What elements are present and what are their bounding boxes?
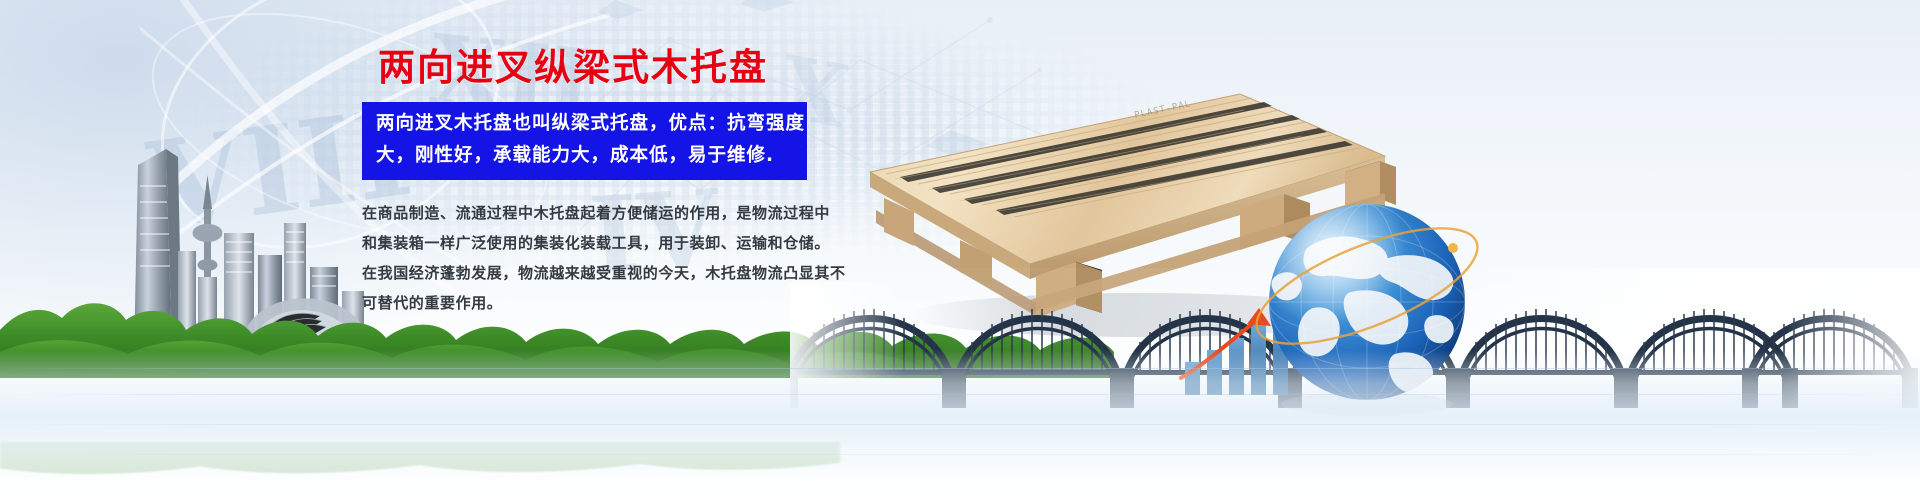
highlight-callout-box: 两向进叉木托盘也叫纵梁式托盘，优点：抗弯强度 大，刚性好，承载能力大，成本低，易… <box>362 102 807 180</box>
page-title: 两向进叉纵梁式木托盘 <box>378 48 880 88</box>
water-reflection-band <box>0 350 1920 500</box>
banner-text-block: 两向进叉纵梁式木托盘 两向进叉木托盘也叫纵梁式托盘，优点：抗弯强度 大，刚性好，… <box>360 48 880 318</box>
highlight-line-2: 大，刚性好，承载能力大，成本低，易于维修. <box>376 140 797 172</box>
paragraph-line-3: 在我国经济蓬勃发展，物流越来越受重视的今天，木托盘物流凸显其不 <box>362 258 862 288</box>
paragraph-line-2: 和集装箱一样广泛使用的集装化装载工具，用于装卸、运输和仓储。 <box>362 228 862 258</box>
description-paragraph: 在商品制造、流通过程中木托盘起着方便储运的作用，是物流过程中 和集装箱一样广泛使… <box>362 198 862 318</box>
paragraph-line-4: 可替代的重要作用。 <box>362 288 862 318</box>
highlight-line-1: 两向进叉木托盘也叫纵梁式托盘，优点：抗弯强度 <box>376 108 797 140</box>
paragraph-line-1: 在商品制造、流通过程中木托盘起着方便储运的作用，是物流过程中 <box>362 198 862 228</box>
product-banner: VIII XII IV X <box>0 0 1920 500</box>
